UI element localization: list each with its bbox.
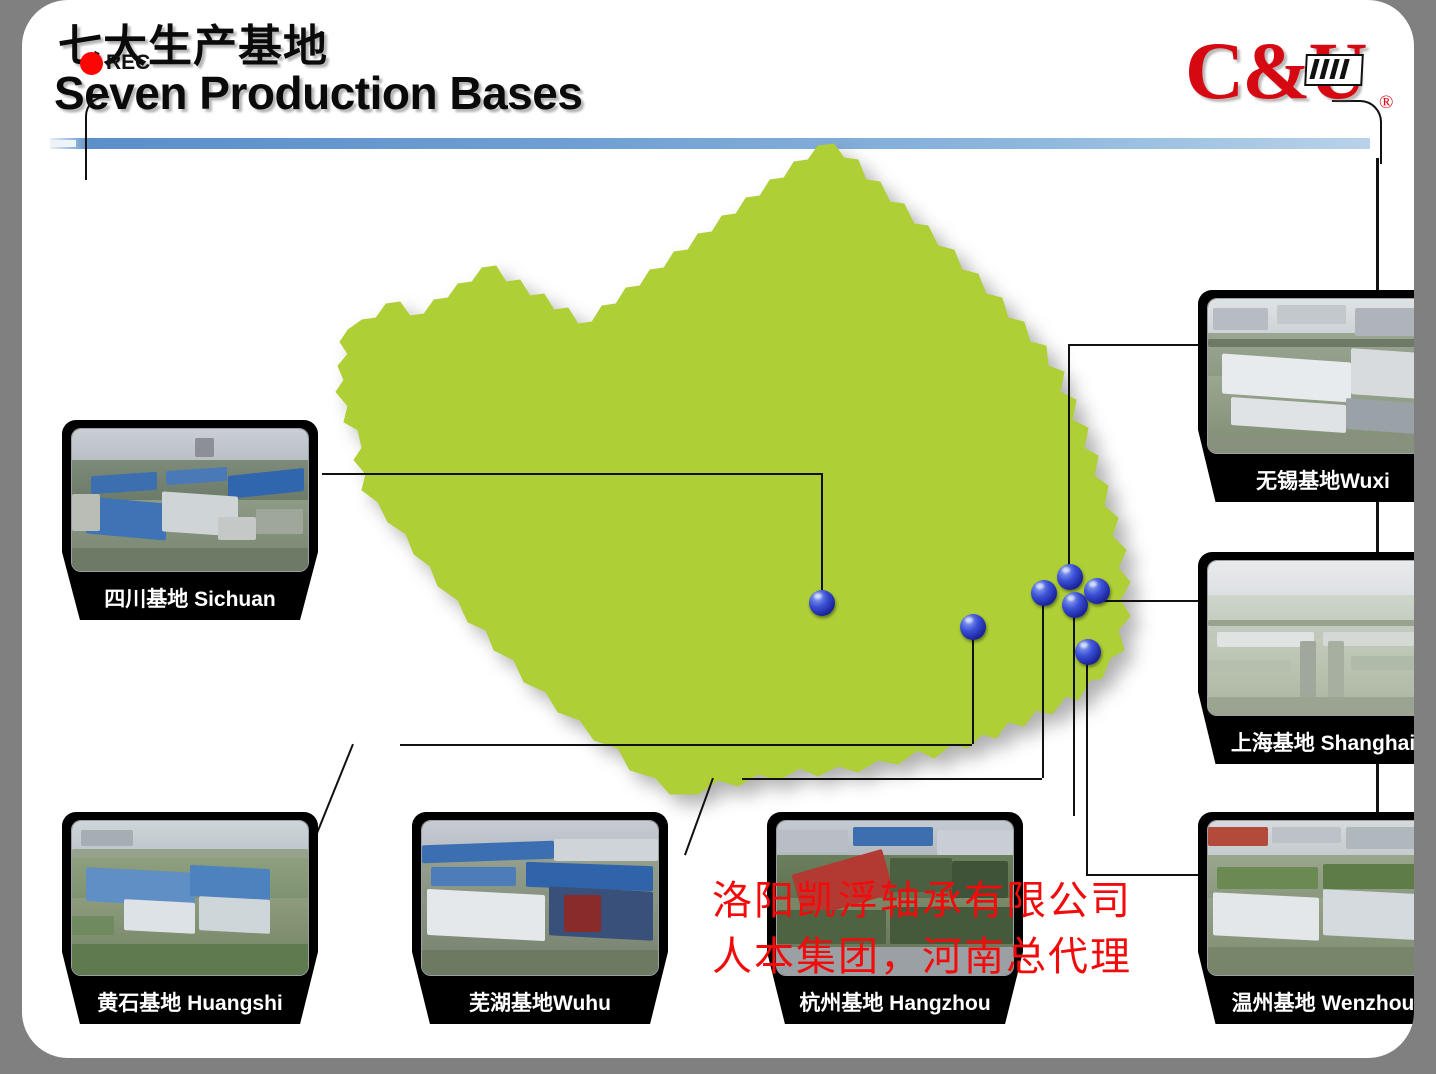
connector-sichuan-h (322, 473, 822, 475)
bearing-icon (1304, 54, 1364, 86)
base-card-wenzhou[interactable]: 温州基地 Wenzhou (1198, 812, 1414, 1024)
china-map (318, 130, 1138, 810)
base-card-wuxi[interactable]: 无锡基地Wuxi (1198, 290, 1414, 502)
connector-huangshi-h (400, 744, 972, 746)
presentation-slide: 七大生产基地 Seven Production Bases REC C&U ® (22, 0, 1414, 1058)
map-marker-sichuan[interactable] (809, 590, 835, 616)
card-frame: 四川基地 Sichuan (62, 420, 318, 620)
map-marker-wuhu[interactable] (1031, 580, 1057, 606)
card-frame: 上海基地 Shanghai (1198, 552, 1414, 764)
connector-sichuan-v (821, 473, 823, 601)
map-marker-huangshi[interactable] (960, 614, 986, 640)
connector-wenzhou-v (1086, 660, 1088, 874)
card-frame: 无锡基地Wuxi (1198, 290, 1414, 502)
base-card-label: 黄石基地 Huangshi (62, 987, 318, 1017)
connector-wenzhou-h (1086, 874, 1198, 876)
base-photo-huangshi (71, 820, 309, 976)
map-marker-shanghai[interactable] (1084, 578, 1110, 604)
base-card-label: 芜湖基地Wuhu (412, 987, 668, 1017)
connector-shanghai-h (1096, 600, 1200, 602)
logo-callout-line-vertical (1376, 158, 1379, 878)
card-frame: 温州基地 Wenzhou (1198, 812, 1414, 1024)
slide-canvas: 七大生产基地 Seven Production Bases REC C&U ® (0, 0, 1436, 1074)
base-card-label: 杭州基地 Hangzhou (767, 987, 1023, 1017)
connector-huangshi-v (972, 634, 974, 744)
card-frame: 黄石基地 Huangshi (62, 812, 318, 1024)
connector-wuhu-h (742, 778, 1042, 780)
china-map-svg (318, 130, 1138, 810)
base-card-huangshi[interactable]: 黄石基地 Huangshi (62, 812, 318, 1024)
base-card-sichuan[interactable]: 四川基地 Sichuan (62, 420, 318, 620)
base-photo-wuxi (1207, 298, 1414, 454)
base-photo-wuhu (421, 820, 659, 976)
card-frame: 芜湖基地Wuhu (412, 812, 668, 1024)
connector-wuxi-h (1068, 344, 1198, 346)
base-card-hangzhou[interactable]: 杭州基地 Hangzhou (767, 812, 1023, 1024)
card-frame: 杭州基地 Hangzhou (767, 812, 1023, 1024)
base-photo-shanghai (1207, 560, 1414, 716)
base-card-label: 温州基地 Wenzhou (1198, 987, 1414, 1017)
base-card-shanghai[interactable]: 上海基地 Shanghai (1198, 552, 1414, 764)
record-dot-icon (80, 52, 103, 75)
recording-label: REC (106, 51, 150, 75)
base-card-label: 四川基地 Sichuan (62, 583, 318, 613)
connector-wuxi-v (1068, 344, 1070, 576)
map-marker-wuxi[interactable] (1057, 564, 1083, 590)
map-marker-wenzhou[interactable] (1075, 639, 1101, 665)
connector-hangzhou-v (1073, 614, 1075, 816)
registered-trademark-icon: ® (1379, 92, 1393, 114)
recording-indicator: REC (80, 51, 150, 75)
connector-wuhu-v (1042, 602, 1044, 778)
title-divider-cap (50, 140, 76, 147)
base-card-label: 无锡基地Wuxi (1198, 465, 1414, 495)
base-photo-hangzhou (776, 820, 1014, 976)
title-callout-line (85, 96, 109, 180)
china-landmass (336, 144, 1130, 794)
base-card-label: 上海基地 Shanghai (1198, 727, 1414, 757)
base-photo-wenzhou (1207, 820, 1414, 976)
base-card-wuhu[interactable]: 芜湖基地Wuhu (412, 812, 668, 1024)
base-photo-sichuan (71, 428, 309, 572)
brand-logo: C&U ® (1185, 30, 1400, 125)
